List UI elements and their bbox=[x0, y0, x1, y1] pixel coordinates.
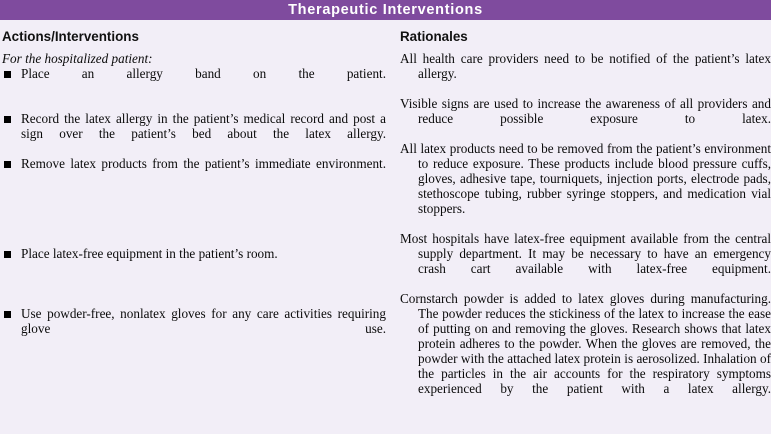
list-item: Place an allergy band on the patient. bbox=[2, 66, 386, 96]
action-text: Record the latex allergy in the patient’… bbox=[21, 111, 386, 156]
rationale-text: All health care providers need to be not… bbox=[400, 51, 771, 96]
list-item: Use powder-free, nonlatex gloves for any… bbox=[2, 306, 386, 351]
square-bullet-icon bbox=[4, 311, 11, 318]
column-header-actions: Actions/Interventions bbox=[2, 29, 139, 44]
page-title: Therapeutic Interventions bbox=[288, 3, 483, 18]
square-bullet-icon bbox=[4, 116, 11, 123]
table-title-bar: Therapeutic Interventions bbox=[0, 0, 771, 20]
list-item: Remove latex products from the patient’s… bbox=[2, 156, 386, 186]
table-body: Actions/Interventions Rationales For the… bbox=[0, 20, 771, 51]
square-bullet-icon bbox=[4, 161, 11, 168]
rationale-text: Most hospitals have latex-free equipment… bbox=[400, 231, 771, 291]
list-item: Record the latex allergy in the patient’… bbox=[2, 111, 386, 156]
rationale-text: Cornstarch powder is added to latex glov… bbox=[400, 291, 771, 411]
actions-list: Place an allergy band on the patient. Re… bbox=[2, 66, 386, 351]
square-bullet-icon bbox=[4, 251, 11, 258]
action-text: Remove latex products from the patient’s… bbox=[21, 156, 386, 186]
actions-column: For the hospitalized patient: Place an a… bbox=[2, 51, 386, 351]
action-text: Place an allergy band on the patient. bbox=[21, 66, 386, 96]
column-headers-row: Actions/Interventions Rationales bbox=[0, 29, 771, 51]
rationale-text: Visible signs are used to increase the a… bbox=[400, 96, 771, 141]
column-header-rationales: Rationales bbox=[400, 29, 468, 44]
square-bullet-icon bbox=[4, 71, 11, 78]
actions-intro-label: For the hospitalized patient: bbox=[2, 51, 386, 66]
action-text: Place latex-free equipment in the patien… bbox=[21, 246, 386, 276]
action-text: Use powder-free, nonlatex gloves for any… bbox=[21, 306, 386, 351]
rationales-column: All health care providers need to be not… bbox=[400, 51, 771, 411]
rationale-text: All latex products need to be removed fr… bbox=[400, 141, 771, 231]
rationales-list: All health care providers need to be not… bbox=[400, 51, 771, 411]
list-item: Place latex-free equipment in the patien… bbox=[2, 246, 386, 276]
therapeutic-interventions-table: Therapeutic Interventions Actions/Interv… bbox=[0, 0, 771, 434]
